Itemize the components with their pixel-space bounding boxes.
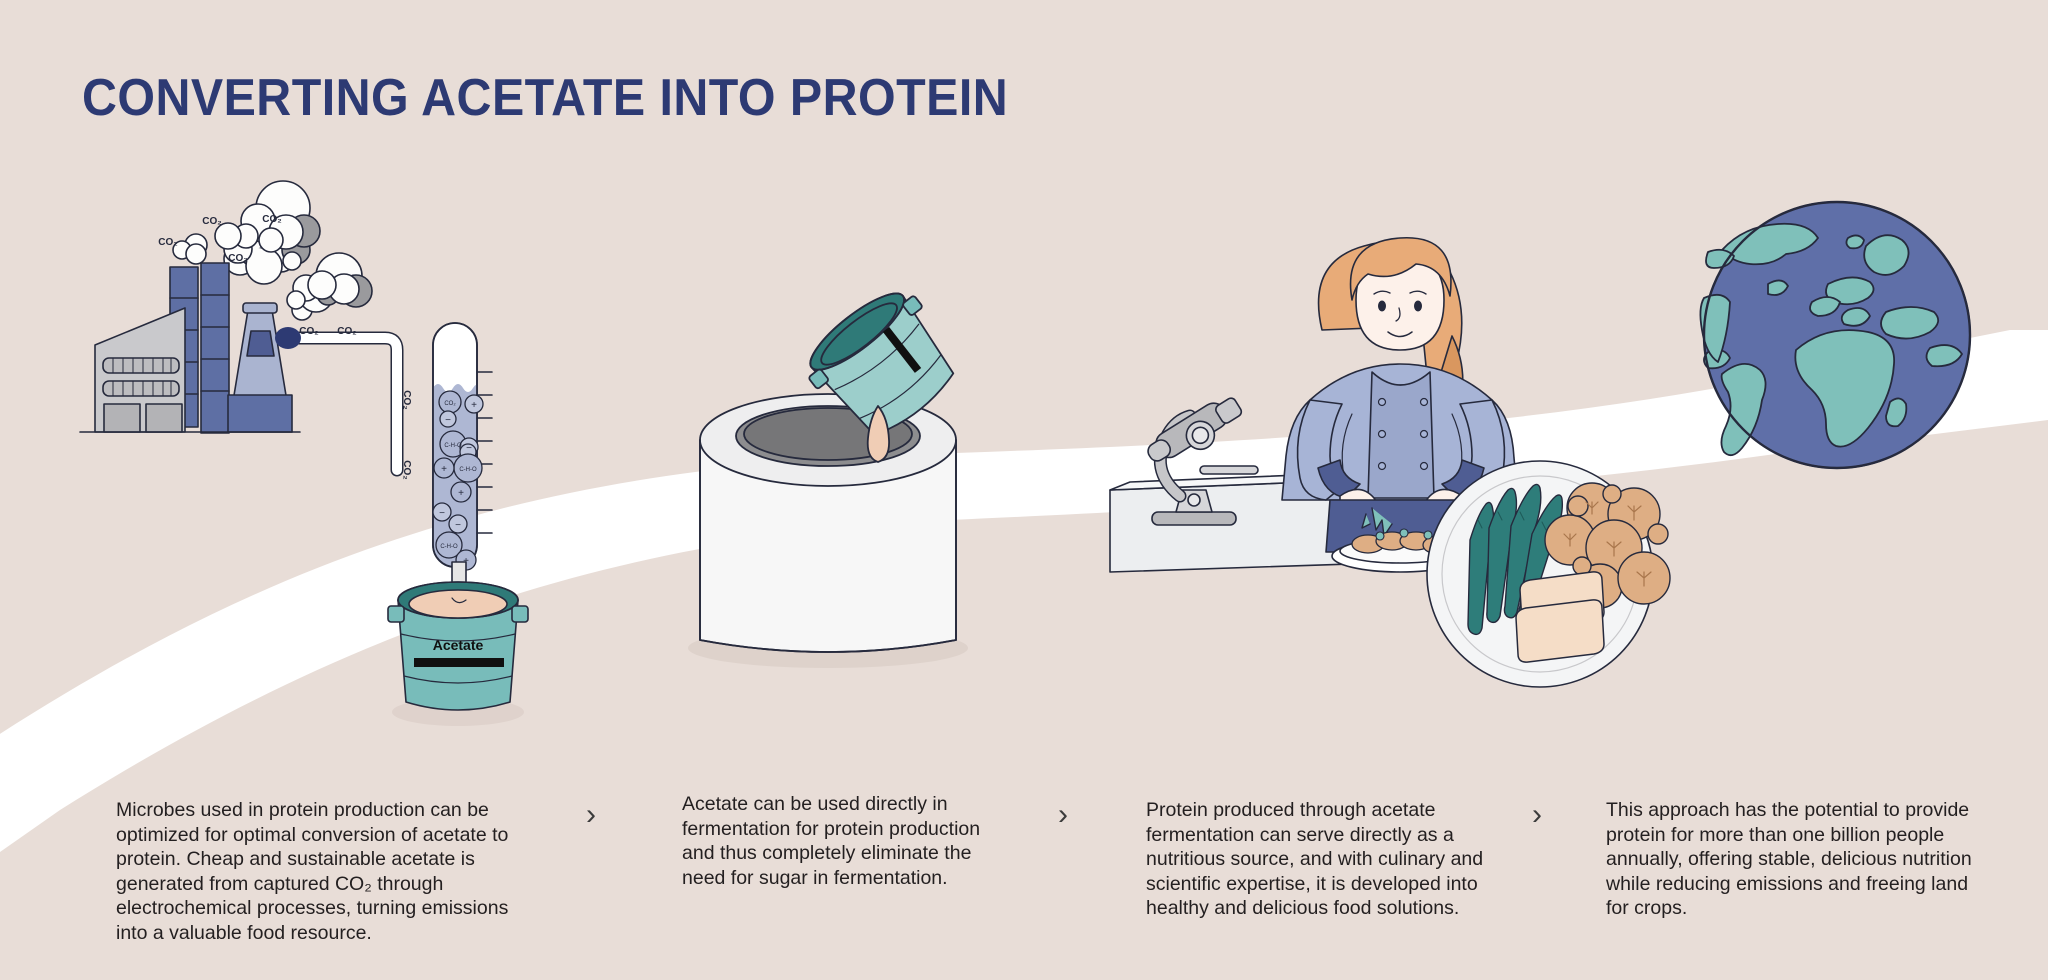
step-separator-chevron-icon-2: › [1058, 798, 1068, 832]
step-separator-chevron-icon-1: › [586, 798, 596, 832]
infographic-canvas: CONVERTING ACETATE INTO PROTEIN [0, 0, 2048, 980]
caption-step-1: Microbes used in protein production can … [116, 798, 526, 945]
captions-row: Microbes used in protein production can … [0, 790, 2048, 970]
caption-step-3: Protein produced through acetate ferment… [1146, 798, 1536, 921]
caption-step-2: Acetate can be used directly in fermenta… [682, 792, 1012, 890]
caption-step-4: This approach has the potential to provi… [1606, 798, 1976, 921]
step-separator-chevron-icon-3: › [1532, 798, 1542, 832]
